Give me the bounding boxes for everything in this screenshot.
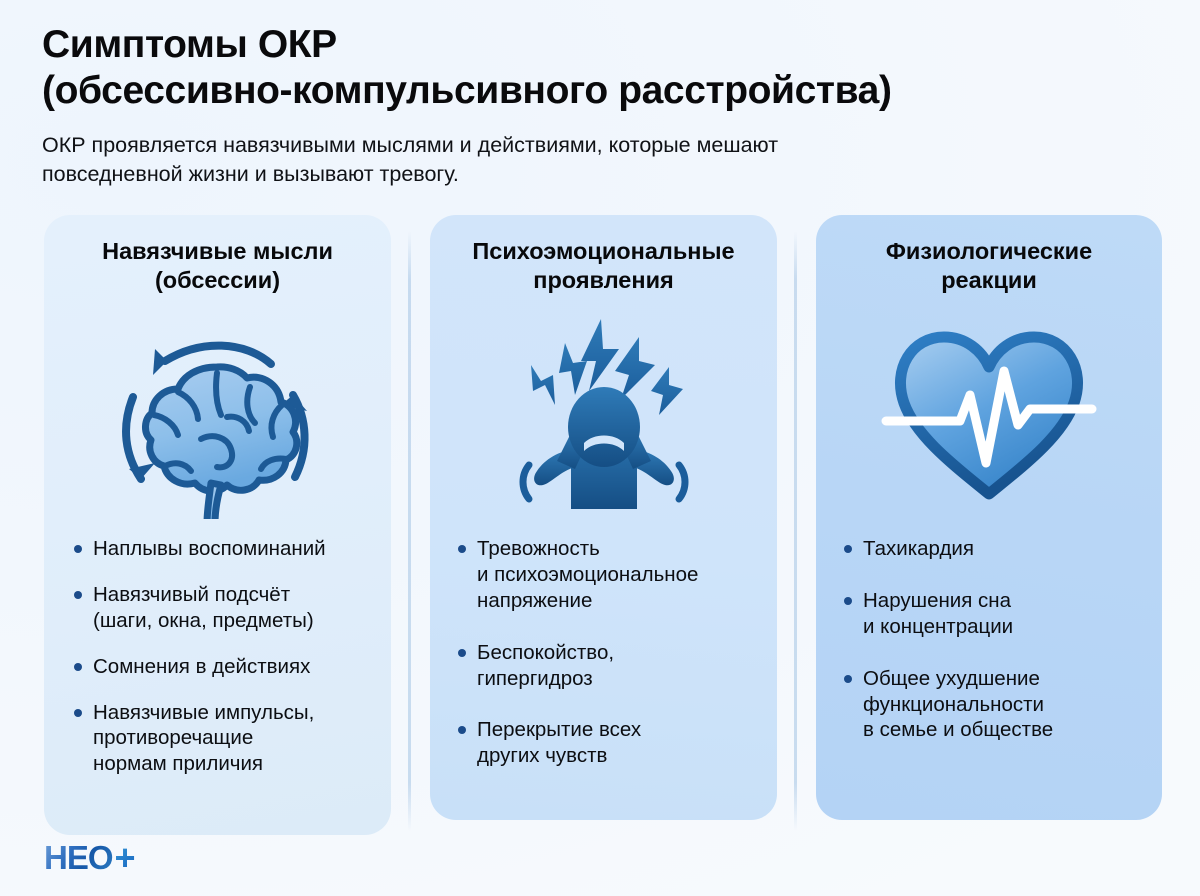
logo-wordmark: НЕО: [44, 839, 113, 877]
bullet-list-psychoemotional: Тревожность и психоэмоциональное напряже…: [430, 536, 777, 769]
card-title-psychoemotional: Психоэмоциональные проявления: [450, 237, 757, 294]
list-item: Тахикардия: [844, 536, 1152, 562]
logo-plus-icon: +: [115, 837, 136, 879]
brand-logo: НЕО +: [44, 838, 136, 878]
list-item: Навязчивый подсчёт (шаги, окна, предметы…: [74, 582, 377, 634]
heart-pulse-icon: [816, 298, 1162, 530]
list-item: Общее ухудшение функциональности в семье…: [844, 666, 1152, 743]
card-title-physiological: Физиологические реакции: [836, 237, 1142, 294]
card-psychoemotional: Психоэмоциональные проявления: [430, 215, 777, 820]
card-divider-1: [408, 231, 411, 831]
list-item: Перекрытие всех других чувств: [458, 717, 767, 769]
list-item: Нарушения сна и концентрации: [844, 588, 1152, 640]
stressed-person-icon: [430, 298, 777, 530]
card-divider-2: [794, 231, 797, 831]
symptom-cards-row: Навязчивые мысли (обсессии): [44, 215, 1162, 840]
list-item: Наплывы воспоминаний: [74, 536, 377, 562]
page-title: Симптомы ОКР (обсессивно-компульсивного …: [42, 22, 1162, 114]
list-item: Тревожность и психоэмоциональное напряже…: [458, 536, 767, 613]
infographic-page: Симптомы ОКР (обсессивно-компульсивного …: [0, 0, 1200, 896]
card-title-obsessive-thoughts: Навязчивые мысли (обсессии): [64, 237, 371, 294]
list-item: Беспокойство, гипергидроз: [458, 640, 767, 692]
bullet-list-obsessive-thoughts: Наплывы воспоминаний Навязчивый подсчёт …: [44, 536, 391, 777]
card-physiological: Физиологические реакции: [816, 215, 1162, 820]
brain-cycle-icon: [44, 298, 391, 530]
list-item: Сомнения в действиях: [74, 654, 377, 680]
list-item: Навязчивые импульсы, противоречащие норм…: [74, 700, 377, 777]
bullet-list-physiological: Тахикардия Нарушения сна и концентрации …: [816, 536, 1162, 743]
card-obsessive-thoughts: Навязчивые мысли (обсессии): [44, 215, 391, 835]
page-subtitle: ОКР проявляется навязчивыми мыслями и де…: [42, 131, 1102, 188]
header: Симптомы ОКР (обсессивно-компульсивного …: [42, 22, 1162, 188]
